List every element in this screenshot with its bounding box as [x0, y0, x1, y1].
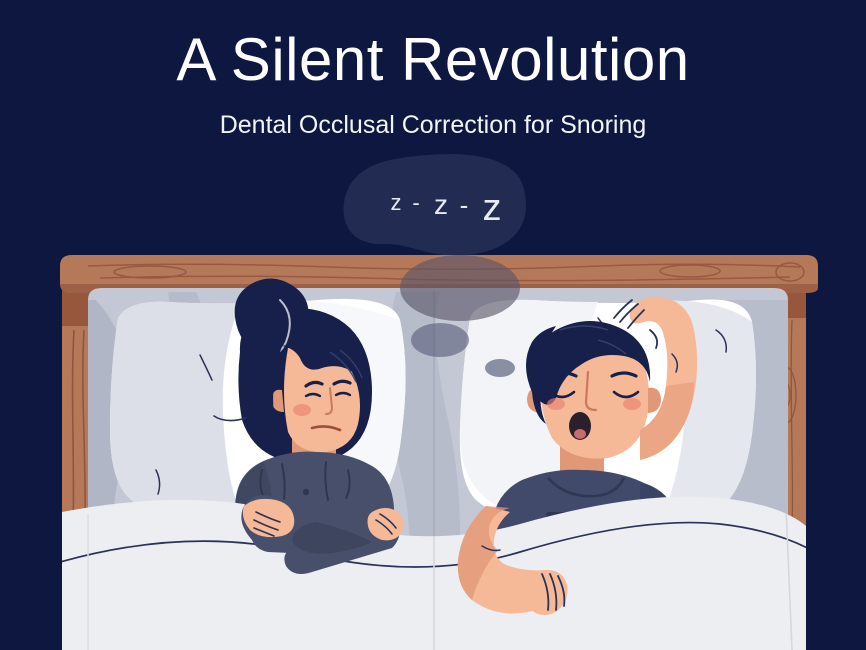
sleep-z-1: z: [391, 190, 402, 215]
sleep-bubble-trail-mid: [411, 323, 469, 357]
sleep-sep-1: -: [412, 190, 419, 215]
woman-blush: [293, 404, 311, 416]
sleep-bubble-trail-small: [485, 359, 515, 377]
poster-canvas: A Silent Revolution Dental Occlusal Corr…: [0, 0, 866, 650]
page-subtitle: Dental Occlusal Correction for Snoring: [0, 90, 866, 138]
sleep-bubble-trail-large: [400, 255, 520, 321]
header-block: A Silent Revolution Dental Occlusal Corr…: [0, 0, 866, 138]
sleep-z-3: z: [483, 187, 502, 229]
man-blush-right: [623, 398, 641, 410]
man-blush-left: [547, 398, 565, 410]
page-title: A Silent Revolution: [0, 0, 866, 90]
sleep-z-2: z: [434, 189, 448, 220]
sleep-sep-2: -: [460, 190, 469, 220]
woman-pajama-button: [303, 489, 309, 495]
man-tongue: [574, 429, 586, 439]
